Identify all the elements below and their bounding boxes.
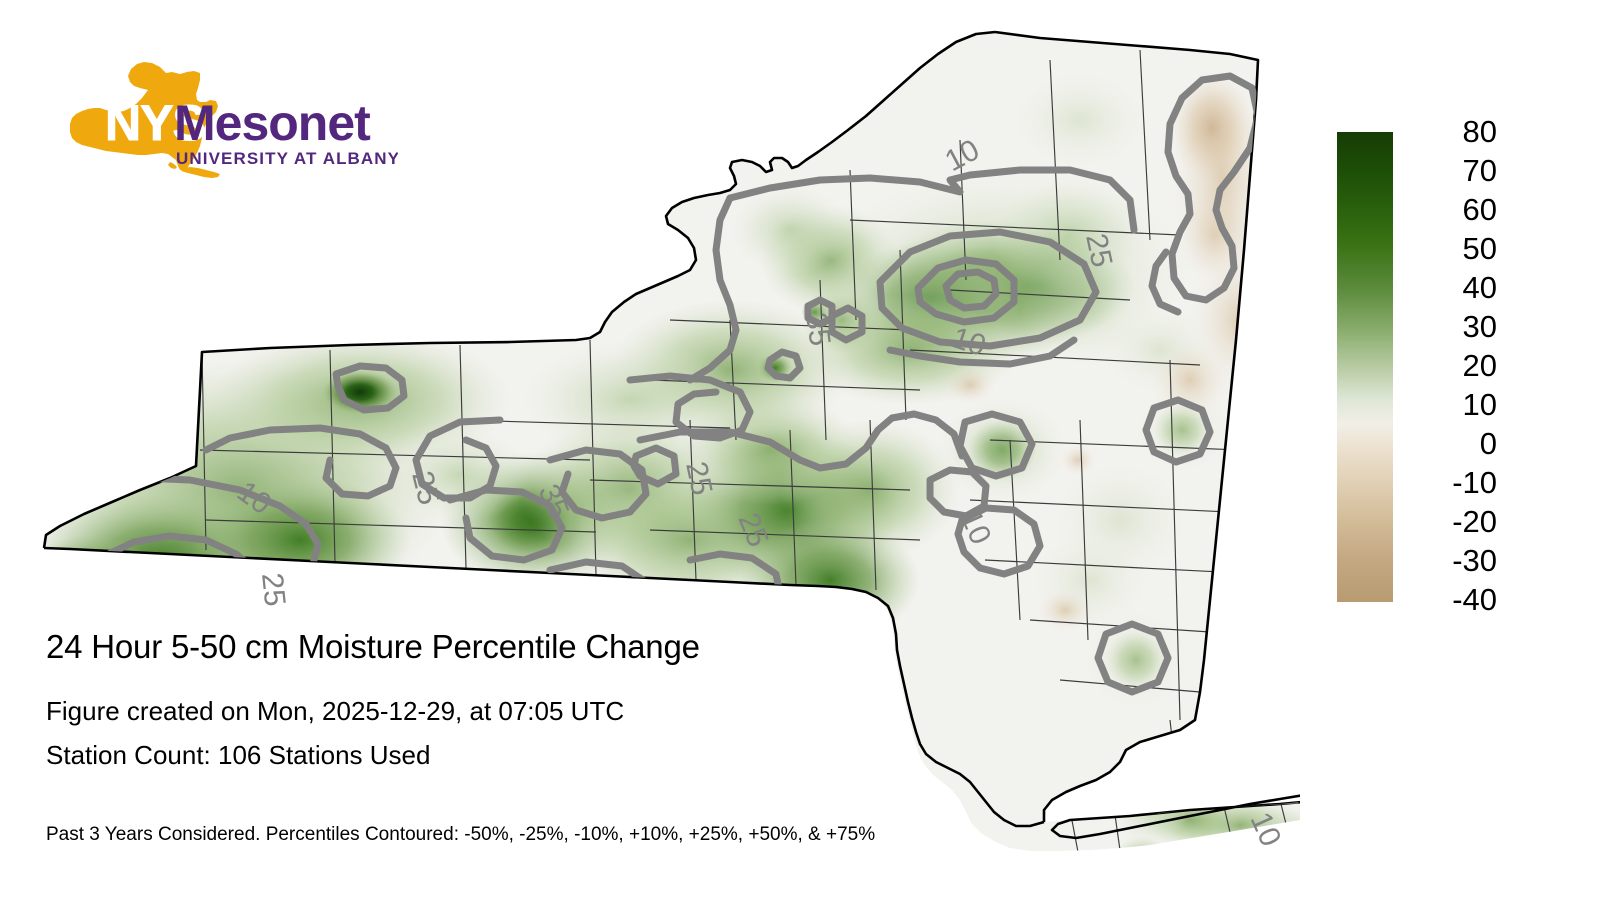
colorbar-tick: 10 [1401,387,1497,423]
colorbar-tick-labels: 80 70 60 50 40 30 20 10 0 -10 -20 -30 -4… [1397,114,1497,622]
colorbar-tick: 80 [1401,114,1497,150]
colorbar-tick: 0 [1401,426,1497,462]
colorbar-gradient [1337,132,1393,602]
station-count-line: Station Count: 106 Stations Used [46,733,1146,777]
colorbar-tick: -30 [1401,543,1497,579]
contour-label: 25 [1079,231,1118,271]
colorbar-tick: 20 [1401,348,1497,384]
contour-label: 25 [679,459,718,499]
colorbar-tick: 50 [1401,231,1497,267]
colorbar-tick: -40 [1401,582,1497,618]
contour-label: 35 [799,310,836,348]
colorbar-tick: 70 [1401,153,1497,189]
colorbar-tick: -10 [1401,465,1497,501]
figure-footnote: Past 3 Years Considered. Percentiles Con… [46,822,875,848]
caption-block: 24 Hour 5-50 cm Moisture Percentile Chan… [46,625,1146,777]
colorbar-tick: -20 [1401,504,1497,540]
colorbar-tick: 60 [1401,192,1497,228]
colorbar-tick: 40 [1401,270,1497,306]
colorbar-tick: 30 [1401,309,1497,345]
contour-label: 25 [255,571,291,608]
colorbar: 80 70 60 50 40 30 20 10 0 -10 -20 -30 -4… [1337,132,1497,604]
figure-created-line: Figure created on Mon, 2025-12-29, at 07… [46,689,1146,733]
figure-title: 24 Hour 5-50 cm Moisture Percentile Chan… [46,625,1146,669]
